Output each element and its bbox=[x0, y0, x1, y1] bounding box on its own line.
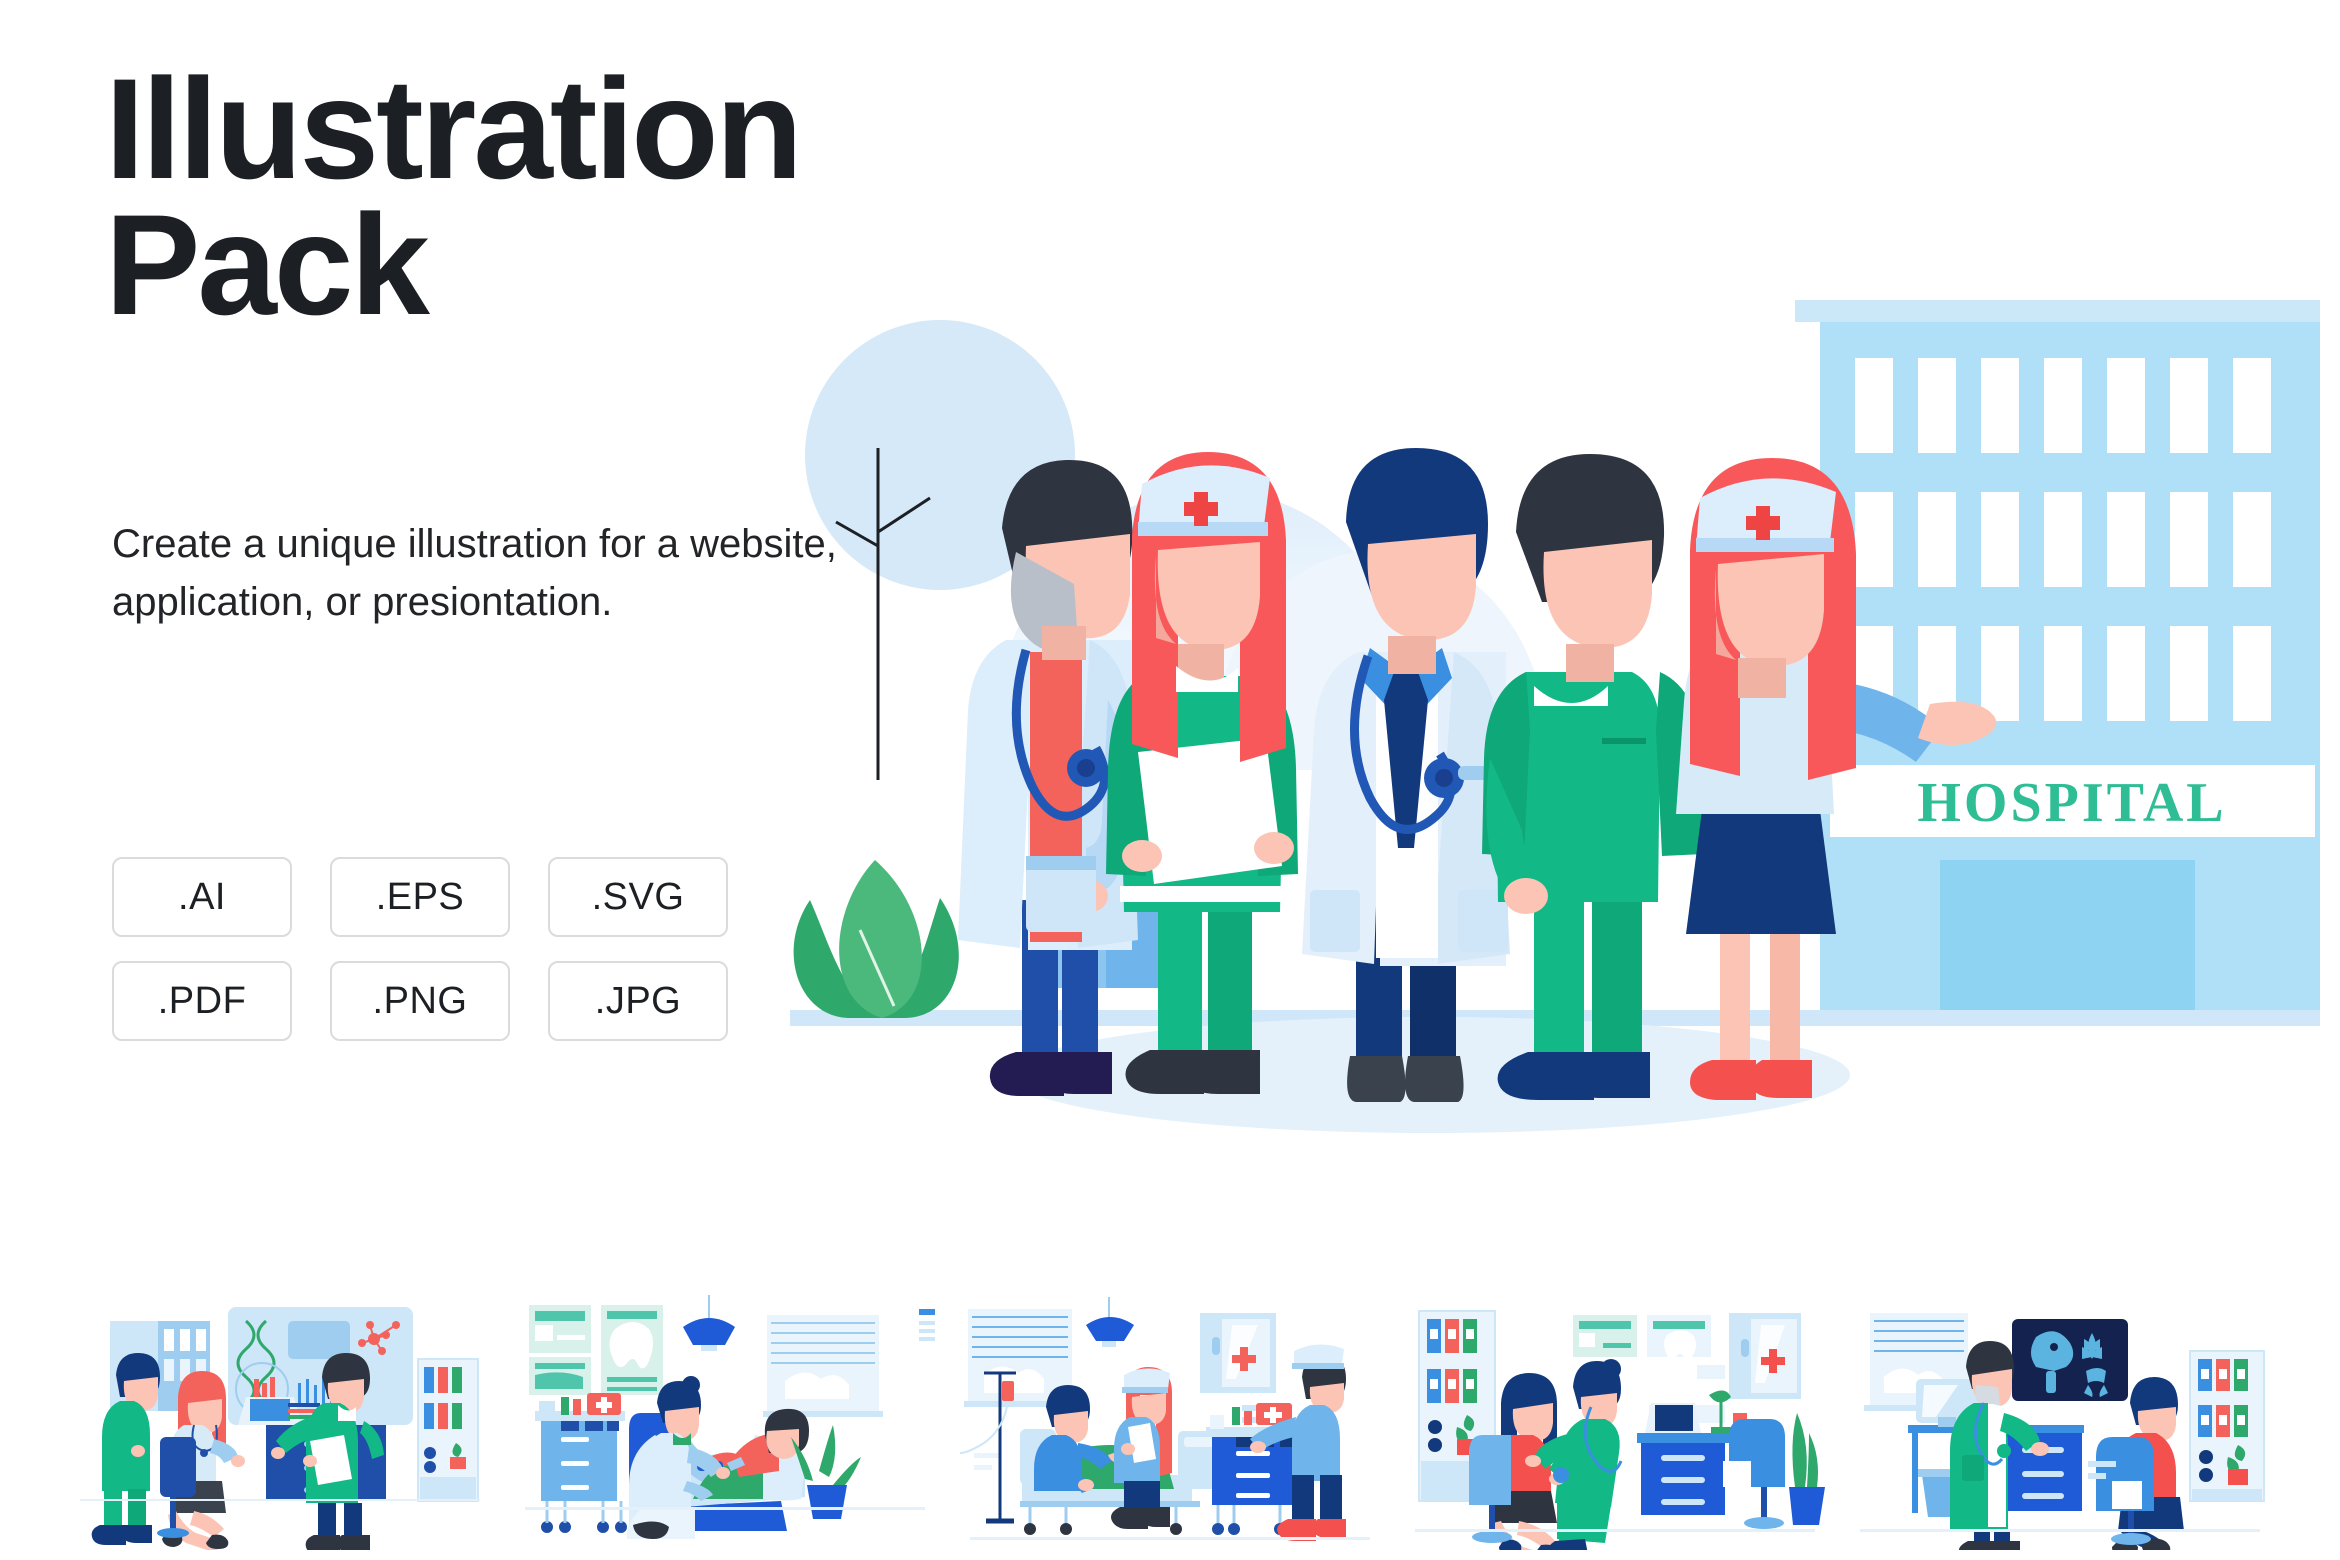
thumbnail-laboratory-research-scene[interactable] bbox=[70, 1285, 490, 1550]
figure-nurse-with-clipboard bbox=[1106, 452, 1298, 1094]
figure-male-nurse-green bbox=[1482, 454, 1704, 1100]
format-badge-eps[interactable]: .EPS bbox=[330, 857, 510, 937]
hero-heading-block: Illustration Pack bbox=[105, 62, 1105, 334]
thumbnail-dental-clinic-scene[interactable] bbox=[515, 1285, 935, 1550]
format-badge-ai[interactable]: .AI bbox=[112, 857, 292, 937]
format-badge-png[interactable]: .PNG bbox=[330, 961, 510, 1041]
file-format-list: .AI .EPS .SVG .PDF .PNG .JPG bbox=[112, 857, 728, 1041]
format-badge-pdf[interactable]: .PDF bbox=[112, 961, 292, 1041]
thumbnail-doctor-checkup-scene[interactable] bbox=[1405, 1285, 1825, 1550]
scene-thumbnail-strip bbox=[70, 1285, 2270, 1550]
page-title-line-1: Illustration bbox=[105, 62, 1105, 198]
bush-plant bbox=[794, 860, 959, 1018]
thumbnail-radiology-xray-scene[interactable] bbox=[1850, 1285, 2270, 1550]
hospital-sign-text: HOSPITAL bbox=[1917, 772, 2226, 834]
thumbnail-hospital-ward-scene[interactable] bbox=[960, 1285, 1380, 1550]
hero-illustration: HOSPITAL bbox=[790, 300, 2320, 1170]
format-badge-svg[interactable]: .SVG bbox=[548, 857, 728, 937]
illustration-pack-page: Illustration Pack Create a unique illust… bbox=[0, 0, 2340, 1560]
page-title: Illustration Pack bbox=[105, 62, 1105, 334]
format-badge-jpg[interactable]: .JPG bbox=[548, 961, 728, 1041]
hospital-building: HOSPITAL bbox=[1795, 300, 2320, 1022]
